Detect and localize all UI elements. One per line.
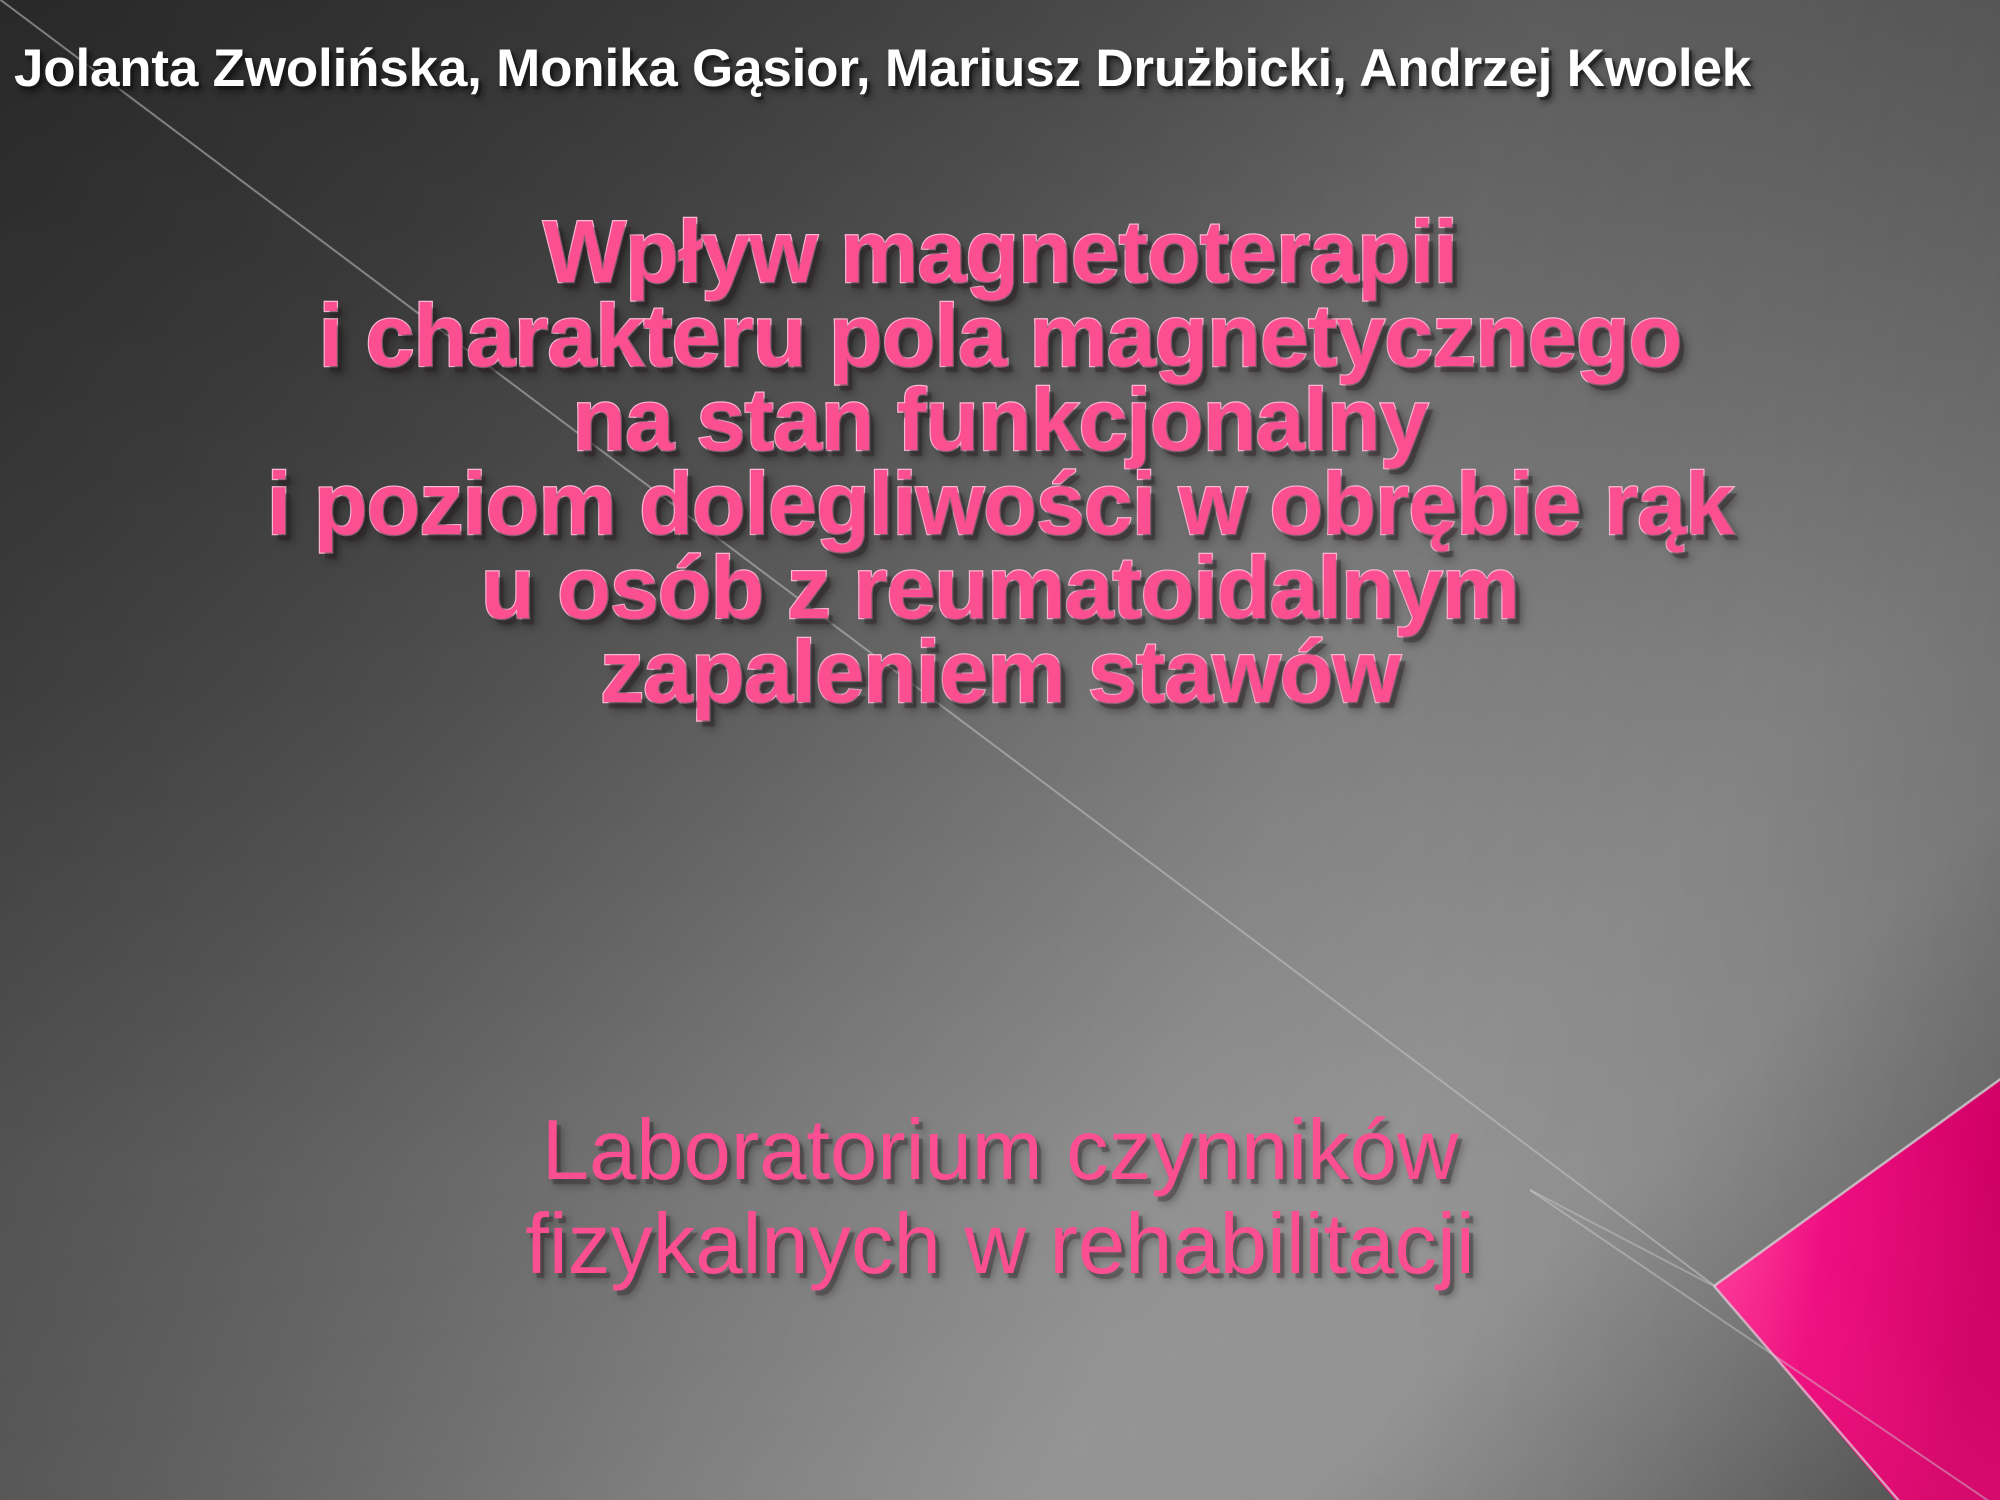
authors-line: Jolanta Zwolińska, Monika Gąsior, Marius…: [14, 38, 2000, 99]
slide-title: Wpływ magnetoterapii i charakteru pola m…: [0, 210, 2000, 714]
presentation-slide: Jolanta Zwolińska, Monika Gąsior, Marius…: [0, 0, 2000, 1500]
slide-subtitle: Laboratorium czynników fizykalnych w reh…: [0, 1104, 2000, 1292]
title-line-1: Wpływ magnetoterapii: [0, 210, 2000, 294]
subtitle-line-1: Laboratorium czynników: [0, 1104, 2000, 1198]
title-line-2: i charakteru pola magnetycznego: [0, 294, 2000, 378]
subtitle-line-2: fizykalnych w rehabilitacji: [0, 1198, 2000, 1292]
title-line-6: zapaleniem stawów: [0, 630, 2000, 714]
title-line-5: u osób z reumatoidalnym: [0, 546, 2000, 630]
title-line-4: i poziom dolegliwości w obrębie rąk: [0, 462, 2000, 546]
title-line-3: na stan funkcjonalny: [0, 378, 2000, 462]
